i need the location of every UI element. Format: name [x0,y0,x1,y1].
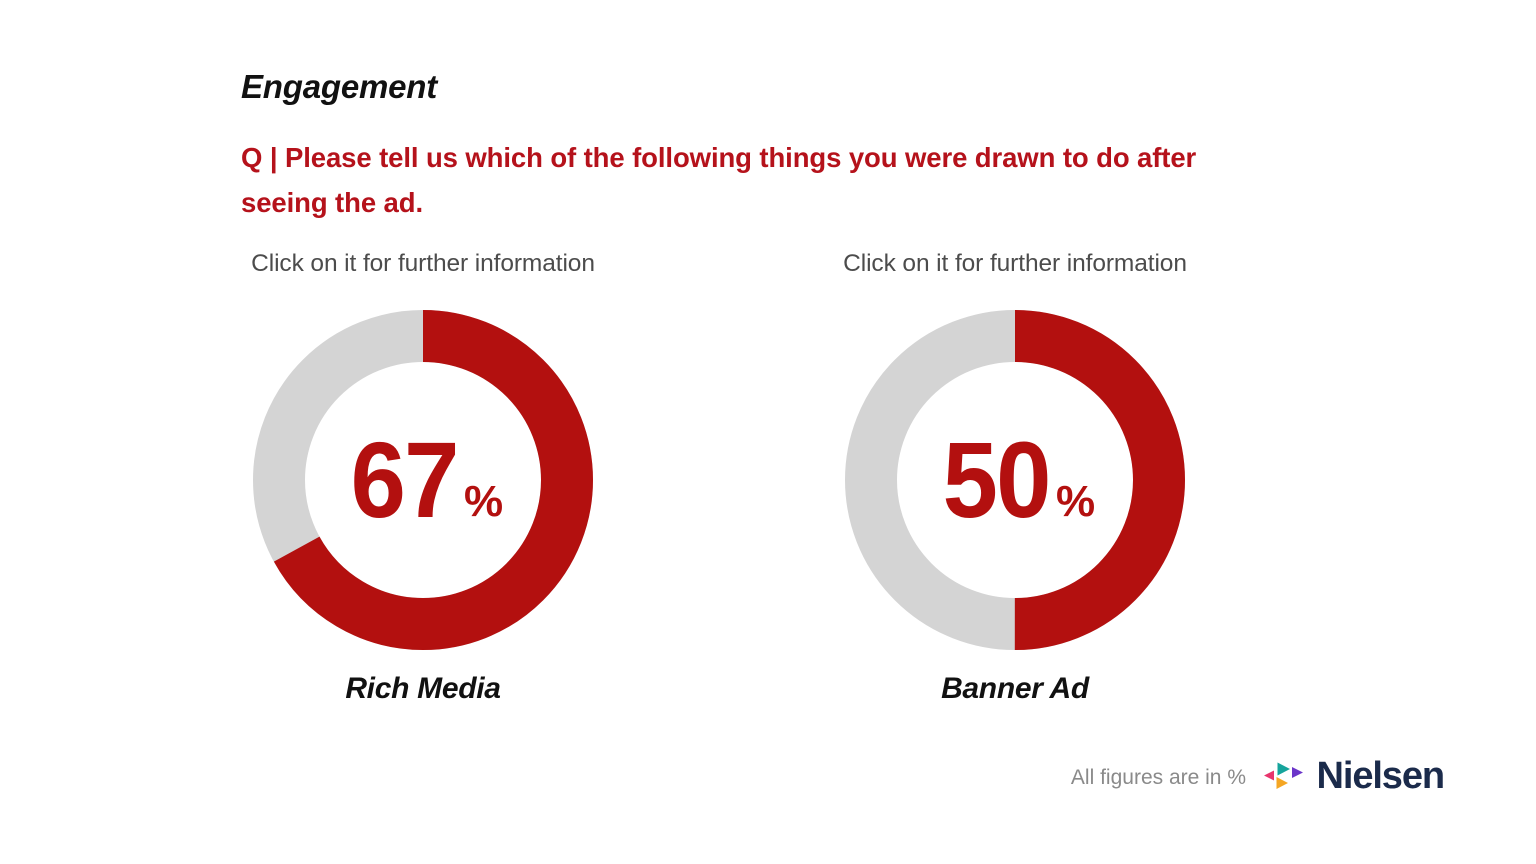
donut-caption: Click on it for further information [193,248,653,280]
footer: All figures are in % Nielsen [0,760,1536,806]
nielsen-triangles-icon [1261,756,1307,796]
donut-ring: 67 % [253,310,593,650]
page-title: Engagement [241,68,437,106]
donut-chart-rich-media: Click on it for further information 67 %… [193,248,653,706]
donut-caption: Click on it for further information [785,248,1245,280]
nielsen-logo: Nielsen [1261,756,1444,796]
donut-chart-banner-ad: Click on it for further information 50 %… [785,248,1245,706]
question-text: Q | Please tell us which of the followin… [241,136,1251,225]
donut-series-label: Rich Media [193,672,653,706]
donut-svg [253,310,593,650]
donut-svg [845,310,1185,650]
donut-series-label: Banner Ad [785,672,1245,706]
nielsen-wordmark: Nielsen [1317,757,1444,795]
footer-note: All figures are in % [1071,766,1246,790]
donut-ring: 50 % [845,310,1185,650]
